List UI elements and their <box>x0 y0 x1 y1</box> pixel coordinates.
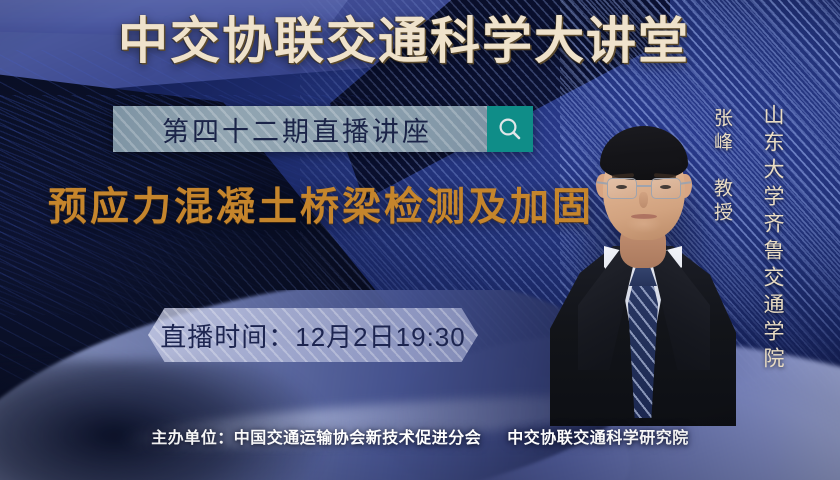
glasses-lens-left <box>607 178 637 199</box>
footer-hosts: 主办单位：中国交通运输协会新技术促进分会中交协联交通科学研究院 <box>0 424 840 448</box>
lecture-poster: 中交协联交通科学大讲堂 第四十二期直播讲座 预应力混凝土桥梁检测及加固 直播时间… <box>0 0 840 480</box>
portrait-nose <box>639 192 648 208</box>
glasses-lens-right <box>651 178 681 199</box>
speaker-role: 教授 <box>712 178 731 226</box>
glasses-bridge <box>637 185 651 187</box>
speaker-organization: 山东大学齐鲁交通学院 <box>762 104 783 374</box>
speaker-portrait <box>548 118 738 418</box>
live-time-text: 直播时间：12月2日19:30 <box>160 317 465 354</box>
session-banner-fill: 第四十二期直播讲座 <box>113 106 487 152</box>
footer-host-2: 中交协联交通科学研究院 <box>507 430 689 447</box>
footer-prefix: 主办单位： <box>151 430 234 447</box>
footer-host-1: 中国交通运输协会新技术促进分会 <box>234 430 482 447</box>
poster-main-title: 中交协联交通科学大讲堂 <box>118 16 698 66</box>
session-banner-label: 第四十二期直播讲座 <box>162 110 438 149</box>
live-time-badge: 直播时间：12月2日19:30 <box>148 308 478 362</box>
portrait-chin-highlight <box>620 218 668 238</box>
session-banner: 第四十二期直播讲座 <box>113 106 533 152</box>
search-icon[interactable] <box>487 106 533 152</box>
speaker-name: 张峰 <box>712 108 731 156</box>
lecture-topic: 预应力混凝土桥梁检测及加固 <box>48 188 608 227</box>
